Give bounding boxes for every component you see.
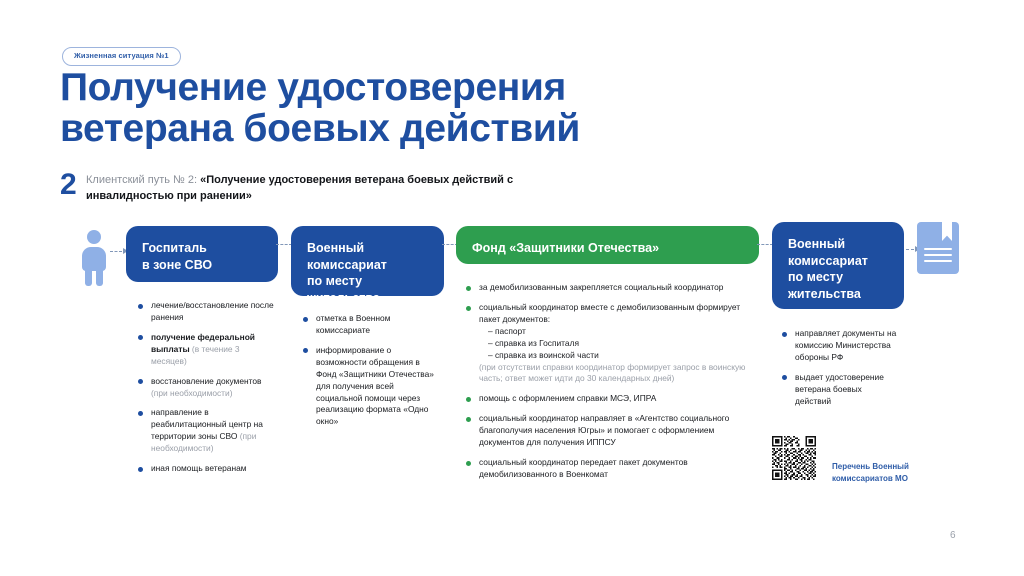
slide: Жизненная ситуация №1 Получение удостове… [0, 0, 1024, 576]
sub-line: – справка из воинской части [479, 350, 756, 362]
list-item: восстановление документов (при необходим… [138, 376, 274, 400]
step-bullets-voenkomat-1: отметка в Военном комиссариате информиро… [303, 313, 440, 428]
connector-3-4 [757, 244, 773, 245]
step-bullets-fond: за демобилизованным закрепляется социаль… [466, 282, 756, 481]
list-item: за демобилизованным закрепляется социаль… [466, 282, 756, 294]
qr-code-icon [772, 436, 816, 480]
list-item: получение федеральной выплаты (в течение… [138, 332, 274, 368]
list-item: социальный координатор направляет в «Аге… [466, 413, 756, 449]
person-icon [80, 230, 108, 286]
step-bullets-voenkomat-2: направляет документы на комиссию Министе… [782, 328, 900, 408]
list-item: социальный координатор передает пакет до… [466, 457, 756, 481]
sub-line: – справка из Госпиталя [479, 338, 756, 350]
certificate-document-icon [917, 222, 959, 274]
step-header-voenkomat-1: Военный комиссариат по месту жительства [291, 226, 444, 296]
list-item: выдает удостоверение ветерана боевых дей… [782, 372, 900, 408]
list-item: отметка в Военном комиссариате [303, 313, 440, 337]
page-number: 6 [950, 530, 956, 541]
list-item: информирование о возможности обращения в… [303, 345, 440, 428]
list-item: иная помощь ветеранам [138, 463, 274, 475]
connector-1-2 [276, 244, 292, 245]
step-bullets-hospital: лечение/восстановление после ранения пол… [138, 300, 274, 475]
step-header-voenkomat-2: Военный комиссариат по месту жительства [772, 222, 904, 309]
sub-line: – паспорт [479, 326, 756, 338]
step-header-fond: Фонд «Защитники Отечества» [456, 226, 759, 264]
list-item: помощь с оформлением справки МСЭ, ИПРА [466, 393, 756, 405]
qr-caption: Перечень Военный комиссариатов МО [832, 461, 909, 484]
sub-note: (при отсутствии справки координатор форм… [479, 362, 745, 384]
step-header-hospital: Госпиталь в зоне СВО [126, 226, 278, 282]
list-item: направляет документы на комиссию Министе… [782, 328, 900, 364]
process-flow: Госпиталь в зоне СВО лечение/восстановле… [0, 0, 1024, 576]
list-item: лечение/восстановление после ранения [138, 300, 274, 324]
list-item: социальный координатор вместе с демобили… [466, 302, 756, 385]
list-item: направление в реабилитационный центр на … [138, 407, 274, 455]
qr-code-card[interactable] [766, 430, 822, 486]
